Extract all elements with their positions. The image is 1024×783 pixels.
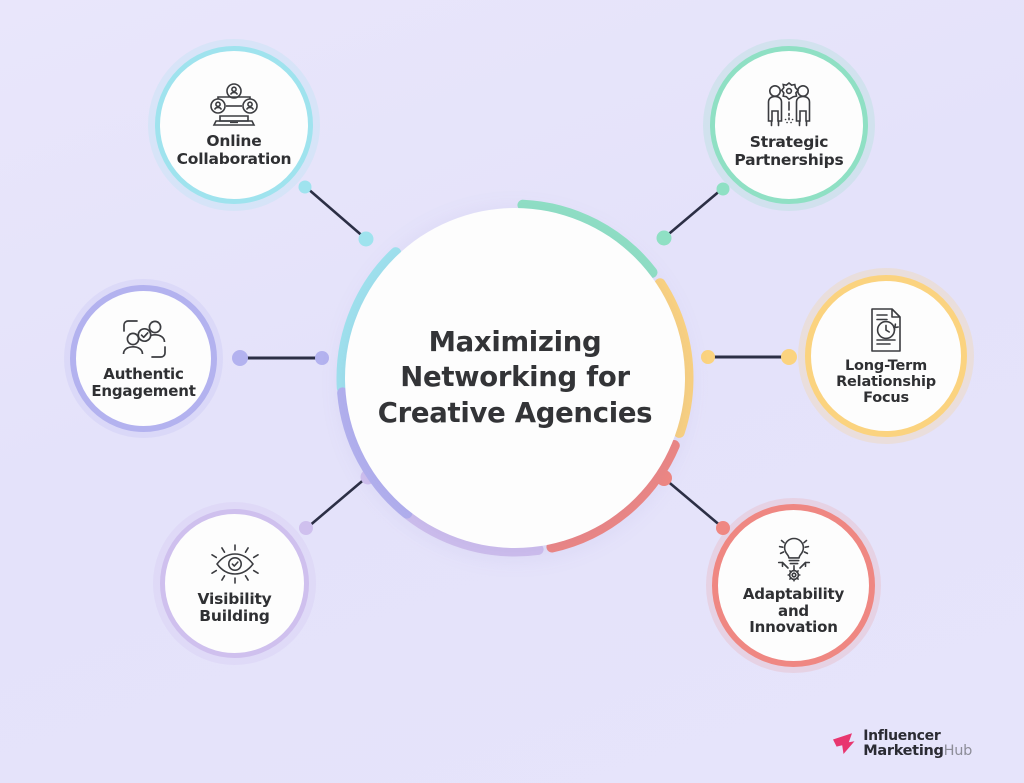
center-title-line: Networking for — [370, 360, 660, 395]
center-title: Maximizing Networking for Creative Agenc… — [370, 325, 660, 431]
diagram-canvas: Maximizing Networking for Creative Agenc… — [0, 0, 1024, 783]
node-label: Long-Term Relationship Focus — [830, 358, 942, 407]
document-clock-icon — [866, 306, 906, 354]
node-label-line: Building — [197, 608, 271, 625]
two-people-puzzle-handshake-icon — [763, 81, 815, 129]
connector-center-online — [299, 181, 374, 247]
logo-line-hub: Hub — [944, 743, 972, 759]
node-label: Authentic Engagement — [85, 366, 201, 400]
node-authentic-engagement[interactable]: Authentic Engagement — [70, 285, 217, 432]
node-label-line: Strategic — [734, 134, 843, 151]
center-title-line: Creative Agencies — [370, 396, 660, 431]
node-label-line: Relationship — [836, 374, 936, 390]
node-label: Visibility Building — [191, 591, 277, 626]
node-label-line: Partnerships — [734, 152, 843, 169]
center-title-line: Maximizing — [370, 325, 660, 360]
center-node[interactable]: Maximizing Networking for Creative Agenc… — [345, 208, 685, 548]
logo-line-influencer: Influencer — [863, 729, 972, 743]
node-label-line: Innovation — [743, 619, 844, 636]
lightbulb-gear-icon — [768, 535, 820, 583]
node-label-line: Focus — [836, 390, 936, 406]
connector-dot — [701, 350, 715, 364]
connector-center-adapt — [656, 470, 730, 535]
connector-center-strategic — [657, 183, 730, 246]
node-visibility-building[interactable]: Visibility Building — [160, 509, 309, 658]
connector-dot — [315, 351, 329, 365]
node-label: Strategic Partnerships — [728, 134, 849, 169]
people-laptop-network-icon — [207, 82, 261, 128]
connector-center-longterm — [701, 349, 797, 365]
connector-dot — [717, 183, 730, 196]
connector-dot — [232, 350, 248, 366]
node-label-line: and — [743, 603, 844, 620]
node-label: Adaptability and Innovation — [737, 586, 850, 636]
node-label: Online Collaboration — [171, 133, 298, 168]
node-online-collaboration[interactable]: Online Collaboration — [155, 46, 313, 204]
node-strategic-partnerships[interactable]: Strategic Partnerships — [710, 46, 868, 204]
node-label-line: Online — [177, 133, 292, 150]
connector-dot — [716, 521, 730, 535]
node-label-line: Long-Term — [836, 358, 936, 374]
logo-line-marketing: Marketing — [863, 743, 943, 759]
node-label-line: Visibility — [197, 591, 271, 608]
node-label-line: Collaboration — [177, 151, 292, 168]
pink-arrow-icon — [832, 729, 860, 759]
node-label-line: Authentic — [91, 366, 195, 383]
connector-dot — [781, 349, 797, 365]
two-people-checkmark-icon — [119, 317, 169, 361]
connector-dot — [299, 181, 312, 194]
node-long-term-relationship-focus[interactable]: Long-Term Relationship Focus — [805, 275, 967, 437]
node-adaptability-and-innovation[interactable]: Adaptability and Innovation — [712, 504, 875, 667]
brand-logo[interactable]: Influencer MarketingHub — [832, 729, 972, 759]
connector-dot — [657, 231, 672, 246]
connector-dot — [656, 470, 672, 486]
connector-dot — [299, 521, 313, 535]
connector-center-authentic — [232, 350, 329, 366]
logo-wordmark: Influencer MarketingHub — [863, 729, 972, 758]
node-label-line: Engagement — [91, 383, 195, 400]
eye-checkmark-rays-icon — [208, 542, 262, 586]
connector-center-visibility — [299, 470, 376, 536]
connector-dot — [359, 232, 374, 247]
node-label-line: Adaptability — [743, 586, 844, 603]
